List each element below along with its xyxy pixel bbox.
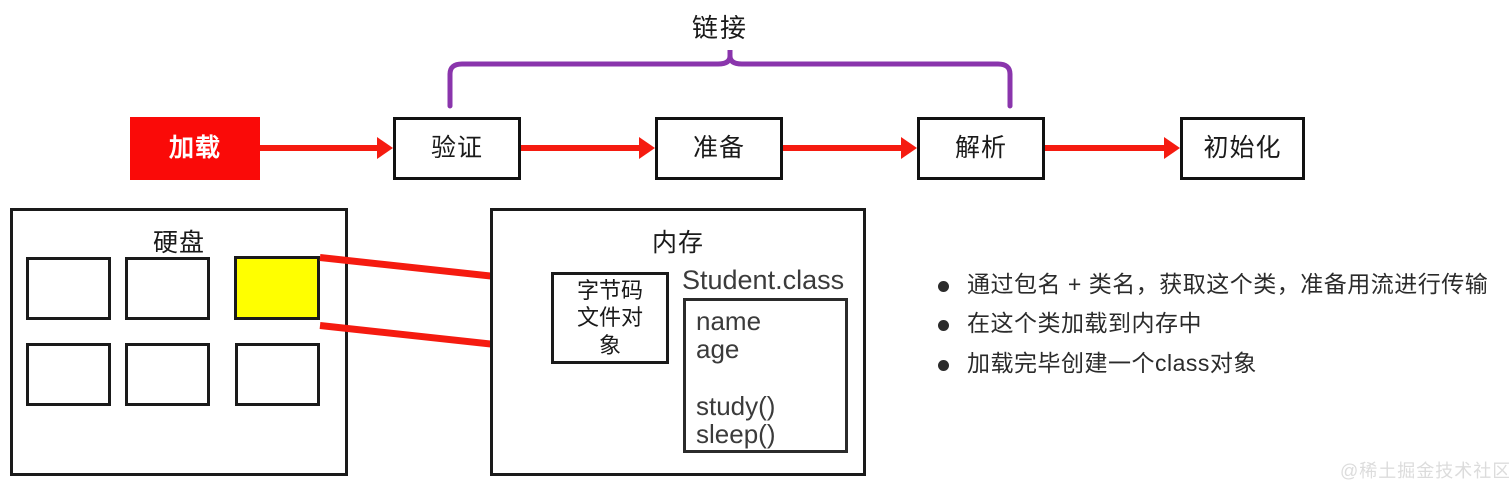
memory-panel-title: 内存	[493, 223, 863, 259]
disk-slot-2[interactable]	[125, 257, 210, 320]
arrow-head-icon	[1164, 137, 1180, 159]
arrow-head-icon	[639, 137, 655, 159]
student-class-box[interactable]: name age study() sleep()	[683, 298, 848, 453]
class-method-study: study()	[696, 392, 775, 420]
disk-panel: 硬盘	[10, 208, 348, 476]
class-field-name: name	[696, 307, 761, 335]
disk-slot-1[interactable]	[26, 257, 111, 320]
bytecode-object-box[interactable]: 字节码 文件对 象	[551, 272, 669, 364]
arrow-head-icon	[901, 137, 917, 159]
class-name-label: Student.class	[682, 265, 844, 296]
list-item: 加载完毕创建一个class对象	[938, 350, 1488, 376]
disk-slot-4[interactable]	[26, 343, 111, 406]
disk-slot-3-highlighted[interactable]	[234, 256, 320, 320]
stage-box-prepare[interactable]: 准备	[655, 117, 783, 180]
stage-box-initialize[interactable]: 初始化	[1180, 117, 1305, 180]
class-method-sleep: sleep()	[696, 420, 775, 448]
arrow-load-to-verify	[260, 145, 377, 151]
stage-box-resolve[interactable]: 解析	[917, 117, 1045, 180]
arrow-prepare-to-resolve	[783, 145, 901, 151]
arrow-resolve-to-initialize	[1045, 145, 1164, 151]
stage-label: 解析	[955, 136, 1007, 161]
note-text: 通过包名 + 类名，获取这个类，准备用流进行传输	[967, 271, 1488, 297]
disk-slot-6[interactable]	[235, 343, 320, 406]
list-item: 在这个类加载到内存中	[938, 310, 1488, 336]
arrow-verify-to-prepare	[521, 145, 639, 151]
bytecode-object-label: 字节码 文件对 象	[577, 277, 643, 360]
stage-box-verify[interactable]: 验证	[393, 117, 521, 180]
stage-label: 加载	[169, 136, 221, 161]
watermark: @稀土掘金技术社区	[1340, 457, 1509, 483]
notes-list: 通过包名 + 类名，获取这个类，准备用流进行传输 在这个类加载到内存中 加载完毕…	[938, 271, 1488, 389]
class-field-age: age	[696, 335, 739, 363]
note-text: 在这个类加载到内存中	[967, 310, 1202, 336]
bullet-dot-icon	[938, 320, 949, 331]
link-brace-icon	[440, 48, 1020, 110]
arrow-head-icon	[377, 137, 393, 159]
stage-label: 验证	[431, 136, 483, 161]
diagram-canvas: 链接 加载 验证 准备 解析 初始化 硬盘 内存 字节码 文件对 象	[0, 0, 1509, 487]
note-text: 加载完毕创建一个class对象	[967, 350, 1257, 376]
bullet-dot-icon	[938, 281, 949, 292]
list-item: 通过包名 + 类名，获取这个类，准备用流进行传输	[938, 271, 1488, 297]
stage-box-load[interactable]: 加载	[130, 117, 260, 180]
disk-slot-5[interactable]	[125, 343, 210, 406]
bullet-dot-icon	[938, 360, 949, 371]
stage-label: 初始化	[1203, 136, 1281, 161]
link-brace-label: 链接	[0, 8, 1440, 45]
disk-panel-title: 硬盘	[13, 223, 345, 259]
stage-label: 准备	[693, 136, 745, 161]
